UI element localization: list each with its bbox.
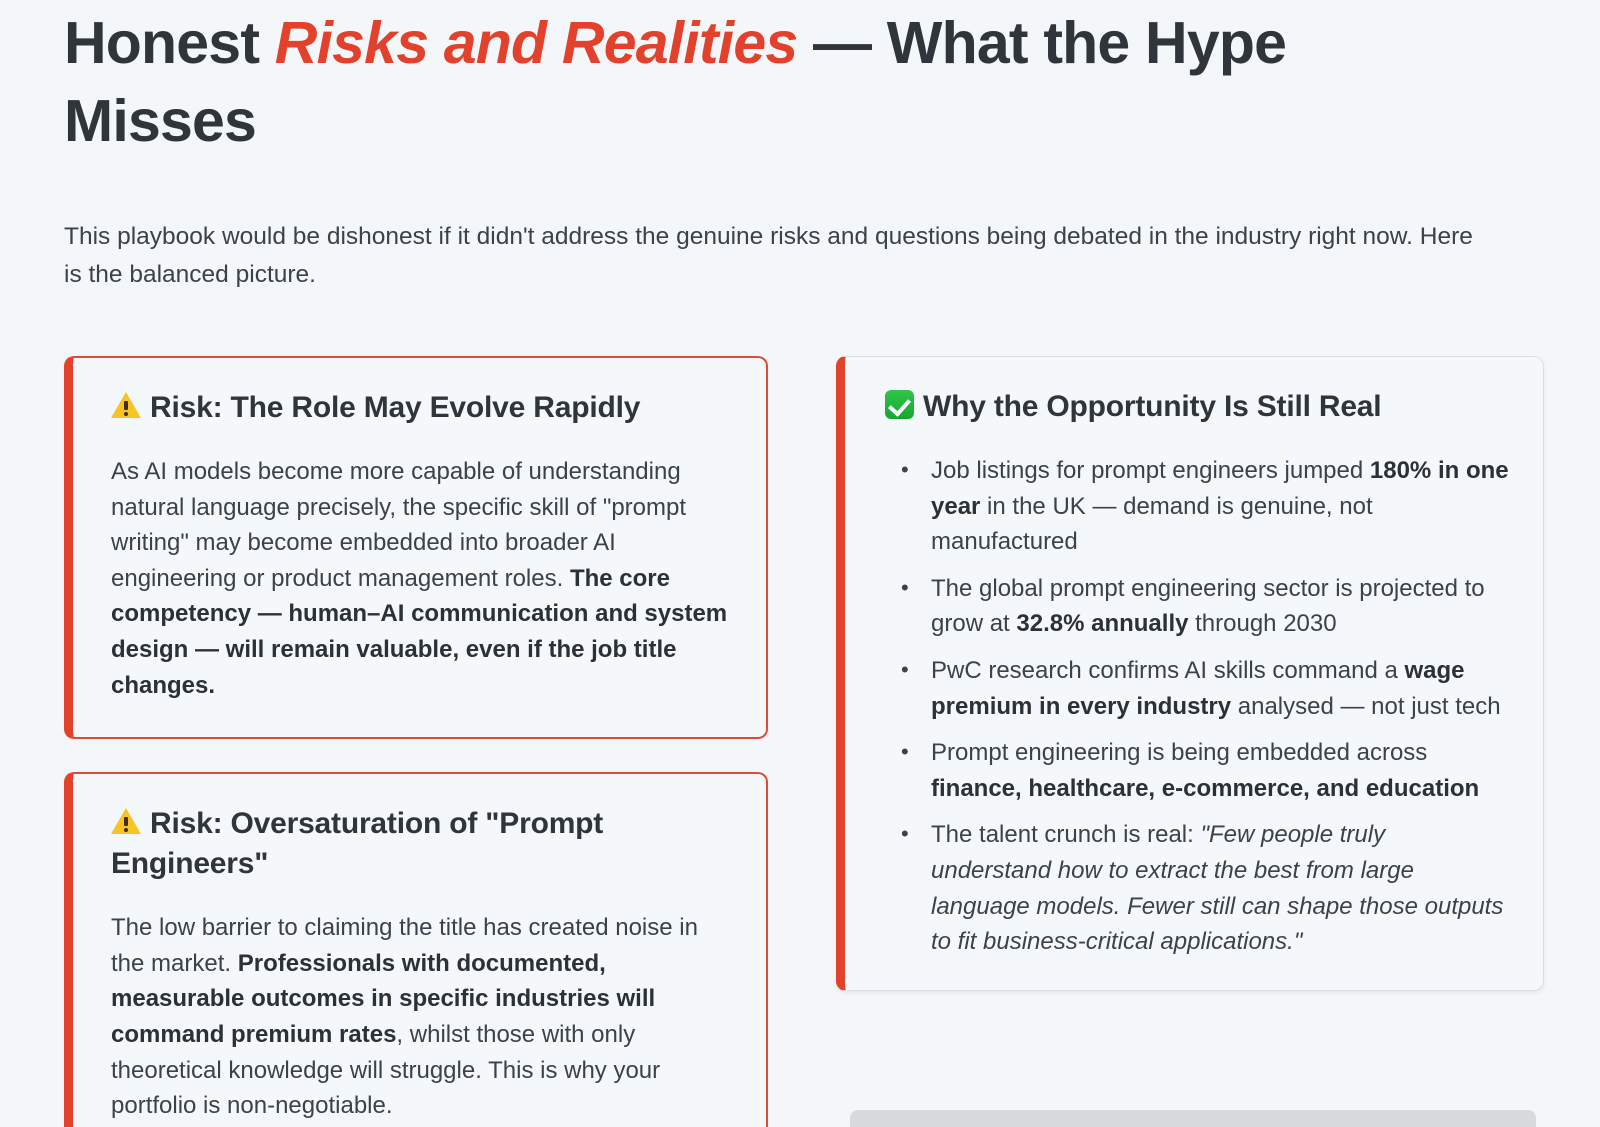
opportunity-column: Why the Opportunity Is Still Real Job li… xyxy=(836,356,1544,991)
bullet-lead: PwC research confirms AI skills command … xyxy=(931,657,1404,684)
intro-paragraph: This playbook would be dishonest if it d… xyxy=(64,160,1484,294)
list-item: The talent crunch is real: "Few people t… xyxy=(931,817,1509,959)
bullet-tail: analysed — not just tech xyxy=(1231,693,1500,720)
warning-icon xyxy=(111,390,141,420)
next-section-placeholder xyxy=(850,1110,1536,1127)
risk-card-title-text: Risk: The Role May Evolve Rapidly xyxy=(150,391,640,424)
risk-card-oversaturation: Risk: Oversaturation of "Prompt Engineer… xyxy=(64,772,768,1127)
bullet-emphasis: finance, healthcare, e-commerce, and edu… xyxy=(931,775,1479,802)
opportunity-card-title: Why the Opportunity Is Still Real xyxy=(885,387,1509,427)
opportunity-bullet-list: Job listings for prompt engineers jumped… xyxy=(885,453,1509,960)
page-root: Honest Risks and Realities — What the Hy… xyxy=(0,0,1600,1127)
bullet-lead: Job listings for prompt engineers jumped xyxy=(931,457,1370,484)
risk-card-body: As AI models become more capable of unde… xyxy=(111,454,728,703)
risk-card-title: Risk: The Role May Evolve Rapidly xyxy=(111,388,728,428)
risk-card-body: The low barrier to claiming the title ha… xyxy=(111,910,728,1124)
list-item: Job listings for prompt engineers jumped… xyxy=(931,453,1509,560)
risk-card-role-evolve: Risk: The Role May Evolve Rapidly As AI … xyxy=(64,356,768,739)
bullet-tail: through 2030 xyxy=(1188,610,1336,637)
page-title-prefix: Honest xyxy=(64,10,275,76)
risks-column: Risk: The Role May Evolve Rapidly As AI … xyxy=(64,356,768,1127)
opportunity-card-title-text: Why the Opportunity Is Still Real xyxy=(923,390,1381,423)
bullet-lead: The talent crunch is real: xyxy=(931,821,1200,848)
bullet-emphasis: 32.8% annually xyxy=(1016,610,1188,637)
bullet-tail: in the UK — demand is genuine, not manuf… xyxy=(931,493,1373,556)
risk-card-title-text: Risk: Oversaturation of "Prompt Engineer… xyxy=(111,807,603,880)
check-mark-icon xyxy=(885,390,914,419)
list-item: Prompt engineering is being embedded acr… xyxy=(931,735,1509,806)
risk-card-title: Risk: Oversaturation of "Prompt Engineer… xyxy=(111,804,728,884)
page-title-accent: Risks and Realities xyxy=(275,10,798,76)
list-item: PwC research confirms AI skills command … xyxy=(931,653,1509,724)
opportunity-card: Why the Opportunity Is Still Real Job li… xyxy=(836,356,1544,991)
warning-icon xyxy=(111,806,141,836)
page-title: Honest Risks and Realities — What the Hy… xyxy=(64,0,1484,160)
bullet-lead: Prompt engineering is being embedded acr… xyxy=(931,739,1427,766)
content-columns: Risk: The Role May Evolve Rapidly As AI … xyxy=(64,356,1536,1127)
list-item: The global prompt engineering sector is … xyxy=(931,571,1509,642)
